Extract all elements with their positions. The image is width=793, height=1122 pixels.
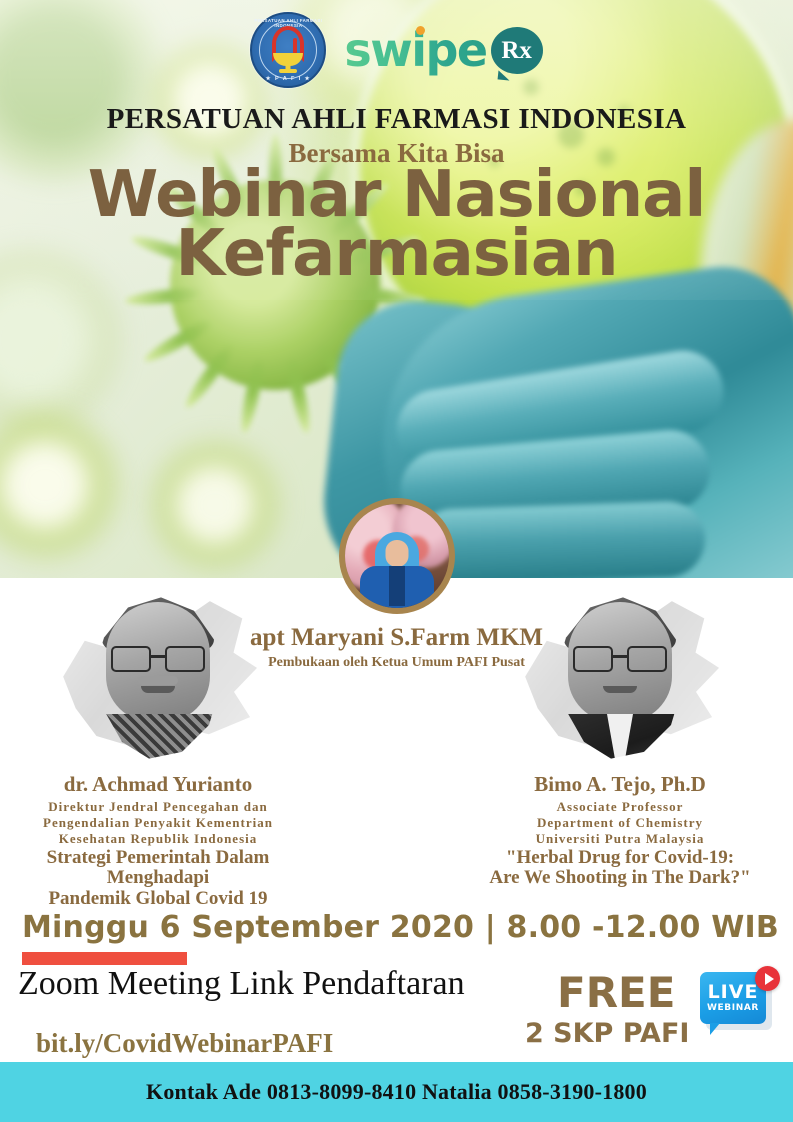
logo-row: PERSATUAN AHLI FARMASI INDONESIA ★ P A F… xyxy=(0,8,793,92)
live-badge-line2: WEBINAR xyxy=(707,1004,759,1013)
photo-bimo-tejo xyxy=(505,588,735,768)
speaker-block-left: dr. Achmad Yurianto Direktur Jendral Pen… xyxy=(8,588,308,910)
registration-link[interactable]: bit.ly/CovidWebinarPAFI xyxy=(36,1028,333,1059)
organization-title: PERSATUAN AHLI FARMASI INDONESIA xyxy=(0,103,793,136)
speaker-affiliation-left: Direktur Jendral Pencegahan dan Pengenda… xyxy=(8,799,308,847)
rx-bubble-icon: Rx xyxy=(491,27,543,74)
red-accent-bar xyxy=(22,952,187,965)
contact-bar: Kontak Ade 0813-8099-8410 Natalia 0858-3… xyxy=(0,1062,793,1122)
webinar-poster: PERSATUAN AHLI FARMASI INDONESIA ★ P A F… xyxy=(0,0,793,1122)
photo-achmad-yurianto xyxy=(43,588,273,768)
speaker-block-right: Bimo A. Tejo, Ph.D Associate Professor D… xyxy=(470,588,770,889)
credits-label: 2 SKP PAFI xyxy=(525,1018,689,1049)
swiperx-logo-icon: swipe Rx xyxy=(344,27,542,74)
speaker-topic-right: "Herbal Drug for Covid-19: Are We Shooti… xyxy=(470,848,770,890)
avatar-maryani xyxy=(339,498,455,614)
live-webinar-badge-icon: LIVE WEBINAR xyxy=(700,972,778,1044)
play-button-icon xyxy=(755,966,780,991)
platform-line: Zoom Meeting Link Pendaftaran xyxy=(18,965,465,1003)
event-datetime: Minggu 6 September 2020 | 8.00 -12.00 WI… xyxy=(22,910,779,945)
pafi-seal-bottom-text: ★ P A F I ★ xyxy=(252,76,324,82)
rx-text: Rx xyxy=(501,38,532,63)
main-title: Webinar Nasional Kefarmasian xyxy=(0,166,793,284)
contact-text: Kontak Ade 0813-8099-8410 Natalia 0858-3… xyxy=(146,1079,647,1105)
live-badge-line1: LIVE xyxy=(708,983,759,1002)
main-title-line2: Kefarmasian xyxy=(0,225,793,284)
pafi-logo-icon: PERSATUAN AHLI FARMASI INDONESIA ★ P A F… xyxy=(250,12,326,88)
speaker-name-right: Bimo A. Tejo, Ph.D xyxy=(470,772,770,797)
speaker-affiliation-right: Associate Professor Department of Chemis… xyxy=(470,799,770,847)
speaker-topic-left: Strategi Pemerintah Dalam Menghadapi Pan… xyxy=(8,848,308,911)
price-label: FREE xyxy=(557,968,675,1017)
speaker-name-left: dr. Achmad Yurianto xyxy=(8,772,308,797)
